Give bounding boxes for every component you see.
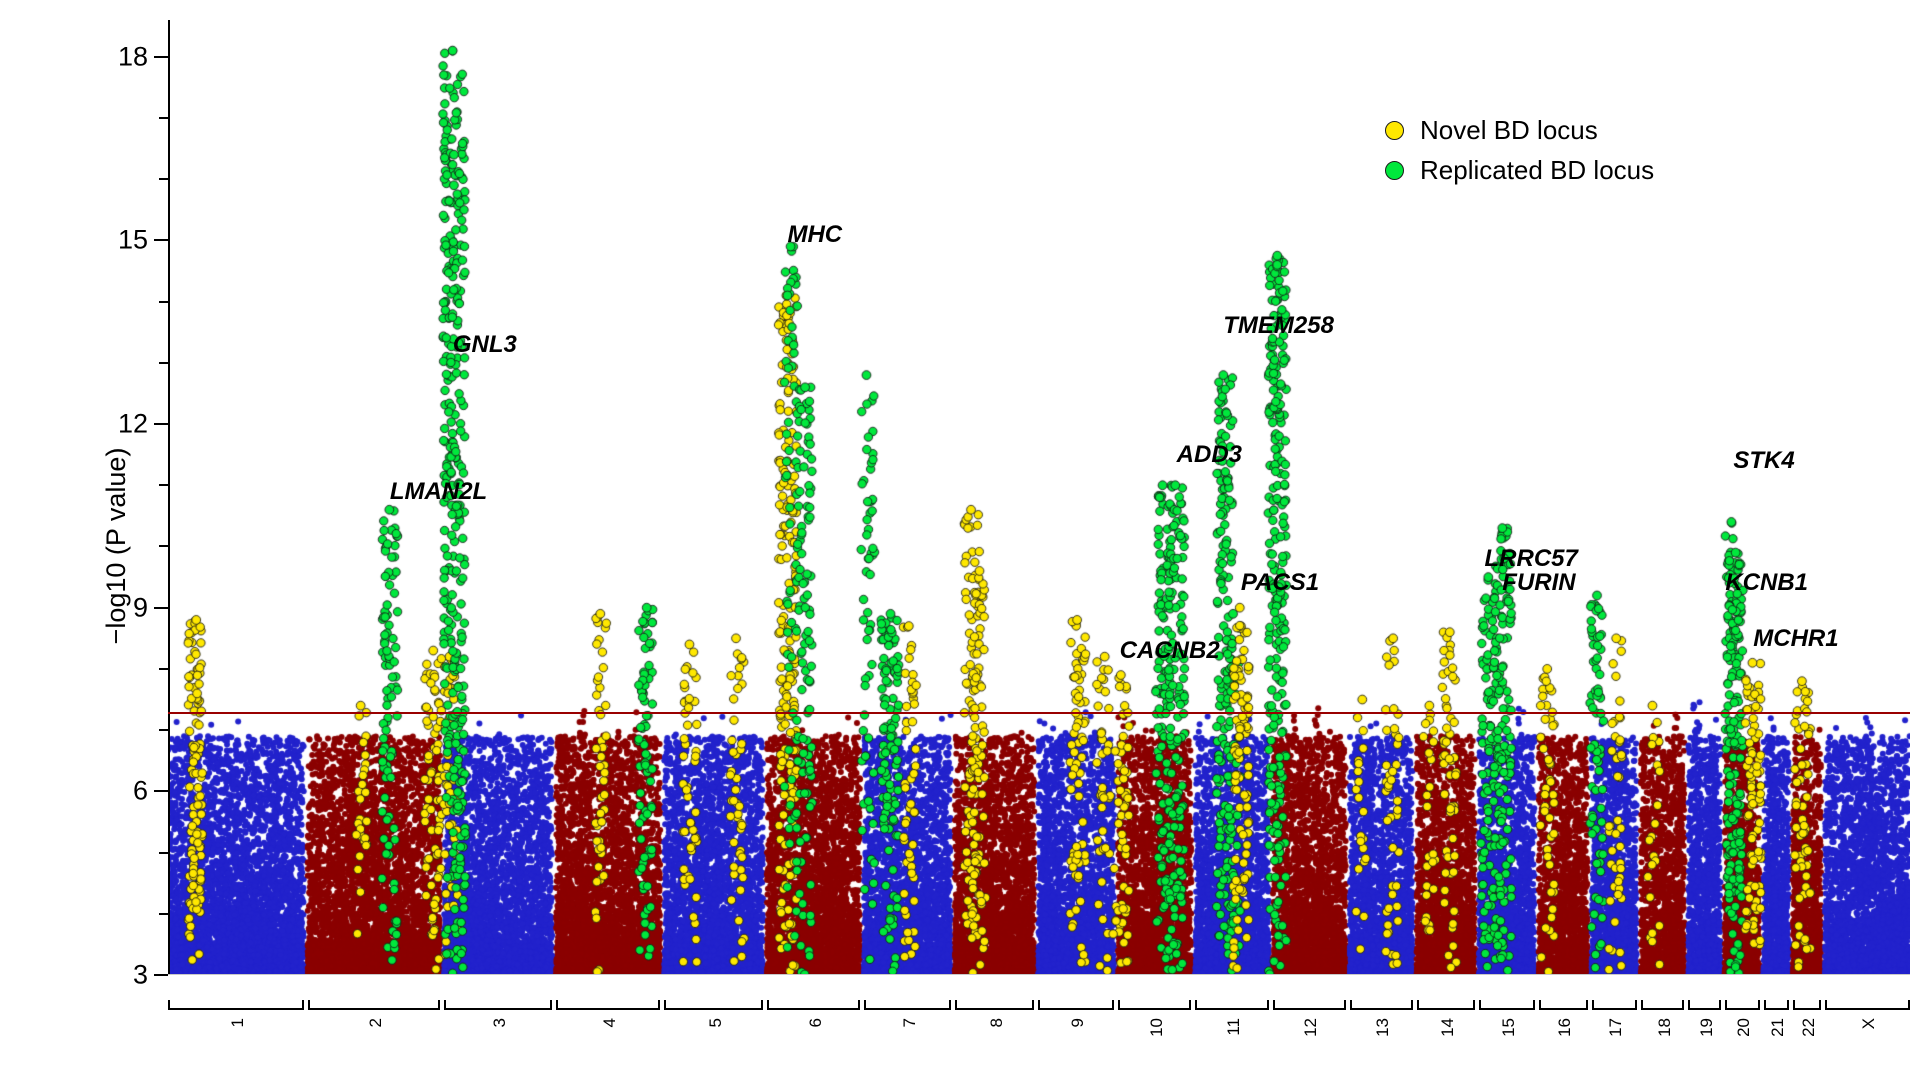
gene-label-furin: FURIN	[1502, 569, 1575, 597]
y-tick-minor	[159, 729, 168, 731]
x-axis-label-chr22: 22	[1799, 1018, 1819, 1037]
x-axis-label-chr21: 21	[1768, 1018, 1788, 1037]
x-axis-bracket-chr17	[1592, 1000, 1637, 1010]
x-axis-bracket-chr19	[1688, 1000, 1720, 1010]
y-tick	[154, 974, 168, 976]
x-axis-bracket-chrX	[1825, 1000, 1910, 1010]
legend: Novel BD locus Replicated BD locus	[1385, 110, 1654, 190]
x-axis-label-chr12: 12	[1301, 1018, 1321, 1037]
x-axis-bracket-chr18	[1641, 1000, 1685, 1010]
gene-label-mchr1: MCHR1	[1753, 625, 1838, 653]
x-axis-label-chr17: 17	[1606, 1018, 1626, 1037]
y-tick-minor	[159, 362, 168, 364]
y-tick-minor	[159, 852, 168, 854]
x-axis-bracket-chr7	[864, 1000, 951, 1010]
legend-swatch-novel	[1385, 121, 1404, 140]
x-axis-label-chr13: 13	[1373, 1018, 1393, 1037]
x-axis-label-chr5: 5	[706, 1018, 726, 1027]
y-tick-minor	[159, 484, 168, 486]
x-axis-bracket-chr3	[444, 1000, 552, 1010]
y-tick-minor	[159, 178, 168, 180]
manhattan-plot-figure: −log10 (P value) 369121518 LMAN2LGNL3MHC…	[0, 0, 1920, 1092]
x-axis-bracket-chr13	[1350, 1000, 1413, 1010]
y-tick-minor	[159, 668, 168, 670]
x-axis-label-chr1: 1	[228, 1018, 248, 1027]
x-axis-bracket-chr16	[1539, 1000, 1588, 1010]
x-axis-bracket-chr15	[1479, 1000, 1535, 1010]
x-axis-label-chr3: 3	[490, 1018, 510, 1027]
legend-swatch-replicated	[1385, 161, 1404, 180]
x-axis-bracket-chr5	[664, 1000, 763, 1010]
x-axis-label-chr4: 4	[600, 1018, 620, 1027]
gene-label-cacnb2: CACNB2	[1120, 637, 1220, 665]
y-tick	[154, 790, 168, 792]
x-axis-label-chr9: 9	[1068, 1018, 1088, 1027]
y-tick-label: 3	[133, 960, 148, 991]
y-tick-label: 6	[133, 776, 148, 807]
x-axis-label-chr8: 8	[987, 1018, 1007, 1027]
x-axis-bracket-chr1	[168, 1000, 304, 1010]
legend-label-novel: Novel BD locus	[1420, 115, 1598, 146]
x-axis-label-chr10: 10	[1147, 1018, 1167, 1037]
gene-label-kcnb1: KCNB1	[1725, 569, 1808, 597]
x-axis-label-chr11: 11	[1224, 1018, 1244, 1036]
x-axis-bracket-chr6	[767, 1000, 860, 1010]
gene-label-add3: ADD3	[1177, 441, 1242, 469]
x-axis-bracket-chr10	[1118, 1000, 1191, 1010]
y-tick-minor	[159, 301, 168, 303]
x-axis-label-chr16: 16	[1555, 1018, 1575, 1037]
x-axis-bracket-chr14	[1417, 1000, 1475, 1010]
x-axis-label-chr18: 18	[1655, 1018, 1675, 1037]
gene-label-lman2l: LMAN2L	[390, 478, 487, 506]
x-axis-bracket-chr11	[1195, 1000, 1269, 1010]
gene-label-tmem258: TMEM258	[1223, 312, 1334, 340]
y-axis-title: −log10 (P value)	[101, 448, 132, 645]
x-axis-label-chrX: X	[1859, 1018, 1879, 1029]
x-axis-bracket-chr22	[1793, 1000, 1821, 1010]
x-axis-bracket-chr2	[308, 1000, 440, 1010]
x-axis-label-chr6: 6	[806, 1018, 826, 1027]
x-axis-line	[168, 974, 1910, 975]
gene-label-mhc: MHC	[787, 221, 842, 249]
x-axis-bracket-chr4	[556, 1000, 660, 1010]
y-tick	[154, 607, 168, 609]
y-tick	[154, 239, 168, 241]
y-tick-minor	[159, 545, 168, 547]
genome-wide-significance-line	[168, 712, 1910, 714]
x-axis-label-chr14: 14	[1438, 1018, 1458, 1037]
y-tick	[154, 56, 168, 58]
y-axis-line	[168, 20, 170, 975]
gene-label-stk4: STK4	[1733, 447, 1794, 475]
x-axis-label-chr2: 2	[366, 1018, 386, 1027]
y-tick-label: 12	[118, 409, 148, 440]
x-axis-bracket-chr12	[1273, 1000, 1346, 1010]
y-tick-label: 18	[118, 41, 148, 72]
y-tick-label: 15	[118, 225, 148, 256]
gene-label-gnl3: GNL3	[453, 331, 517, 359]
x-axis-bracket-chr9	[1038, 1000, 1114, 1010]
legend-item-replicated: Replicated BD locus	[1385, 150, 1654, 190]
y-tick-minor	[159, 117, 168, 119]
x-axis-label-chr19: 19	[1697, 1018, 1717, 1037]
legend-item-novel: Novel BD locus	[1385, 110, 1654, 150]
x-axis-bracket-chr8	[955, 1000, 1035, 1010]
x-axis-bracket-chr20	[1725, 1000, 1760, 1010]
x-axis-label-chr7: 7	[900, 1018, 920, 1027]
y-tick-label: 9	[133, 592, 148, 623]
x-axis-label-chr15: 15	[1499, 1018, 1519, 1037]
x-axis-label-chr20: 20	[1734, 1018, 1754, 1037]
x-axis-bracket-chr21	[1764, 1000, 1790, 1010]
legend-label-replicated: Replicated BD locus	[1420, 155, 1654, 186]
y-tick	[154, 423, 168, 425]
gene-label-pacs1: PACS1	[1241, 569, 1319, 597]
y-tick-minor	[159, 913, 168, 915]
